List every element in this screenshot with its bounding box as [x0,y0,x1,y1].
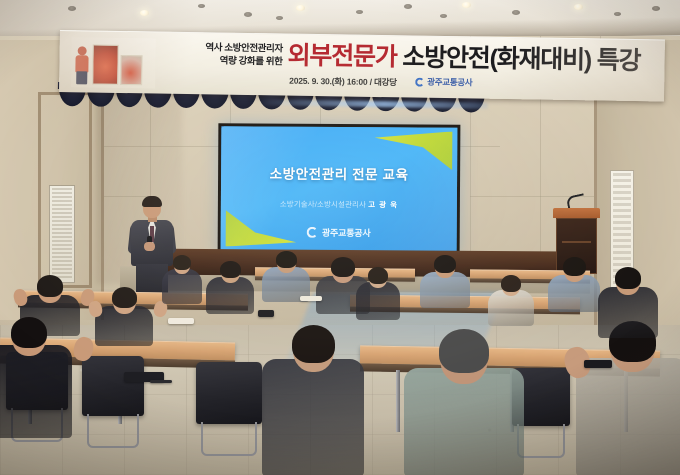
ceiling-vent-icon [652,6,660,11]
person-hair [439,329,489,373]
banner-logo-text: 광주교통공사 [427,76,472,89]
attendee-row2-woman [356,268,400,320]
person-hair [37,275,63,297]
ceiling-vent-icon [512,10,520,15]
slide-subtitle-name: 고 광 욱 [368,200,398,209]
phone [258,310,274,317]
banner-subhead-line2: 역량 강화를 위한 [164,54,282,68]
attendee-front-right-ed [598,268,658,338]
chair-frame [201,422,257,456]
banner-meta: 2025. 9. 30.(화) 16:00 / 대강당 [289,75,397,89]
person-hair [563,257,586,276]
person-hair [173,255,191,270]
person-hair [292,325,335,363]
chair-frame [87,414,139,448]
projection-screen: 소방안전관리 전문 교육 소방기술사/소방시설관리사 고 광 욱 광주교통공사 [218,123,461,254]
ceiling-vent-icon [68,6,76,11]
chair [82,356,144,416]
slide-subtitle-role: 소방기술사/소방시설관리사 [280,200,366,210]
paper [168,318,194,324]
chair [196,362,262,424]
person-hair [368,267,388,284]
ceiling-downlight-icon [574,4,583,10]
person-hair [331,257,355,277]
slide-logo: 광주교통공사 [221,225,457,239]
person-torso [576,358,680,475]
pen [150,380,172,383]
person-torso [162,269,202,304]
attendee-front-left [0,318,72,438]
event-banner: 역사 소방안전관리자 역량 강화를 위한 외부전문가 소방안전(화재대비) 특강… [59,30,665,101]
g-circle-icon [415,77,424,86]
banner-subhead: 역사 소방안전관리자 역량 강화를 위한 [164,42,282,69]
slide-title: 소방안전관리 전문 교육 [221,162,457,183]
person-hair [501,275,521,292]
person-torso [262,359,364,475]
person-hair [11,317,47,348]
attendee-right-blue-2 [548,258,600,312]
banner-headline-red: 외부전문가 [287,42,396,72]
person-hair [220,261,241,278]
tablet [584,360,612,368]
door-icon [49,185,75,283]
person-torso [404,368,524,475]
lecture-hall-photo: 역사 소방안전관리자 역량 강화를 위한 외부전문가 소방안전(화재대비) 특강… [0,0,680,475]
g-circle-icon [307,227,318,238]
person-hair [434,255,456,273]
ceiling-vent-icon [404,4,412,9]
ceiling-downlight-icon [296,5,305,11]
attendee-back-left-3 [162,256,202,304]
banner-logo: 광주교통공사 [415,76,472,89]
attendee-front-center [262,326,364,475]
person-hair [615,267,641,289]
banner-headline: 외부전문가 소방안전(화재대비) 특강 [287,41,640,77]
banner-headline-dark: 소방안전(화재대비) 특강 [402,43,640,75]
attendee-front-stripe [576,322,680,475]
table-leg [396,370,400,432]
person-hair [112,287,137,308]
person-hair [276,251,297,268]
paper-2 [300,296,322,301]
attendee-right-blue-1 [420,256,470,308]
person-torso [0,345,72,438]
ceiling-vent-icon [244,12,252,17]
slide-subtitle: 소방기술사/소방시설관리사 고 광 욱 [221,198,457,210]
attendee-mid-blue [262,252,310,302]
attendee-front-grey [404,330,524,475]
ceiling-downlight-icon [462,2,471,8]
attendee-right-woman [488,276,534,326]
attendee-back-left-2 [95,288,153,346]
slide-logo-text: 광주교통공사 [322,226,371,239]
attendee-mid-left [206,262,254,314]
ceiling-downlight-icon [140,10,149,16]
fire-extinguisher-illustration [71,37,156,88]
chair-frame [517,424,565,458]
